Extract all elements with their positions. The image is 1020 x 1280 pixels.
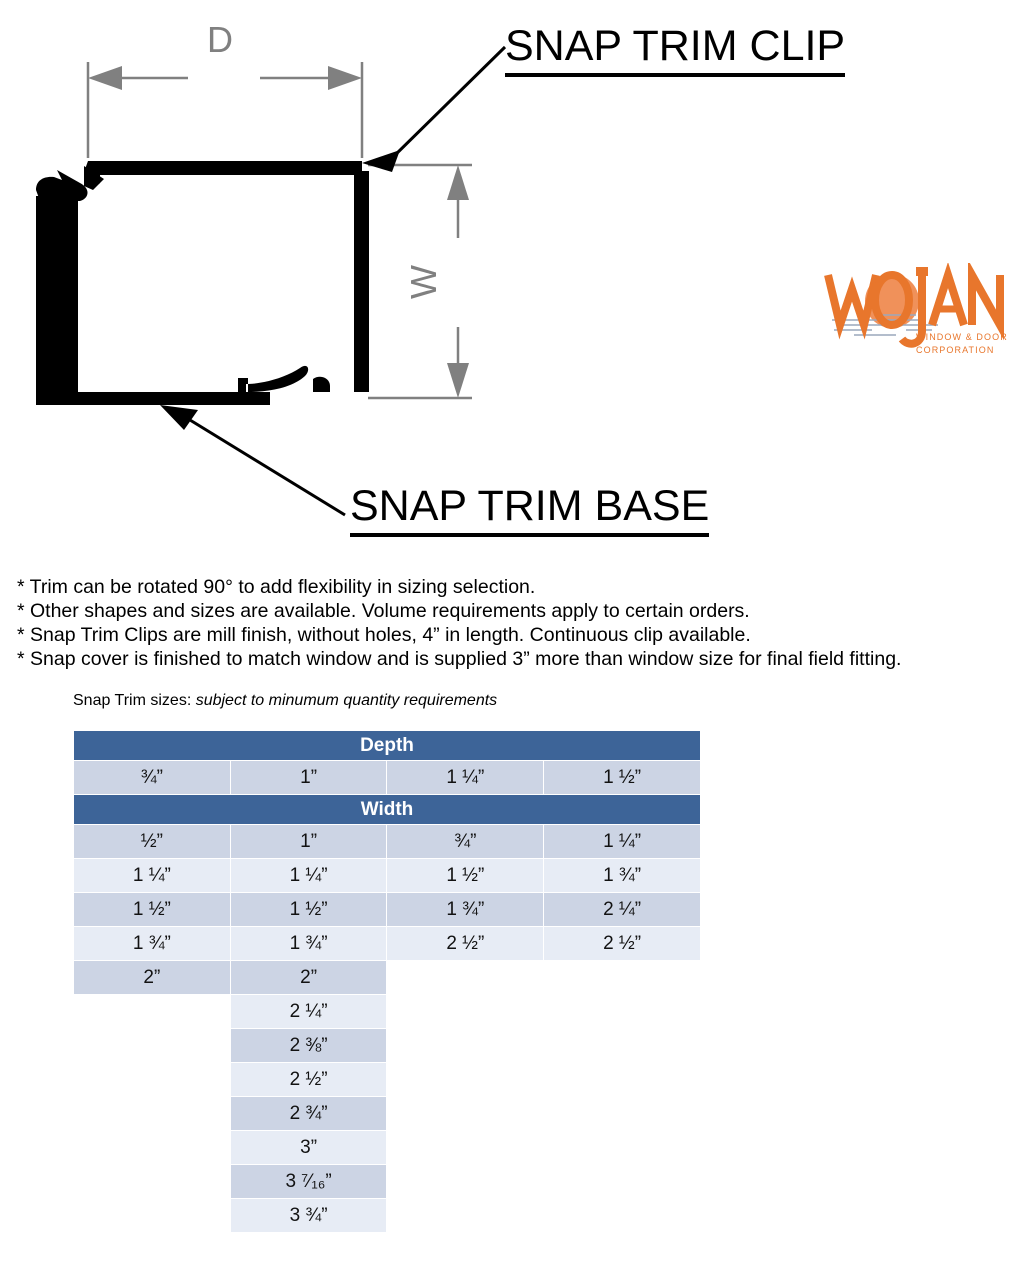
table-row: 1 ¼” 1 ¼” 1 ½” 1 ¾” — [74, 859, 700, 892]
table-row: Width — [74, 795, 700, 824]
table-cell: ¾” — [387, 825, 543, 858]
table-cell: 1 ½” — [544, 761, 700, 794]
table-row: 1 ½” 1 ½” 1 ¾” 2 ¼” — [74, 893, 700, 926]
table-row: 2” 2” — [74, 961, 700, 994]
table-row: 3” — [74, 1131, 700, 1164]
base-bottom-snap-lip — [238, 366, 308, 392]
table-cell: 3 ⁷⁄₁₆” — [231, 1165, 387, 1198]
table-cell-empty — [544, 1165, 700, 1198]
table-cell: 2 ¾” — [231, 1097, 387, 1130]
width-label-W: W — [403, 265, 444, 299]
note-item: * Other shapes and sizes are available. … — [17, 599, 1002, 623]
depth-dimension-group — [88, 62, 362, 158]
table-cell: 2 ⅜” — [231, 1029, 387, 1062]
table-cell: 2 ½” — [544, 927, 700, 960]
table-cell: 1 ¾” — [387, 893, 543, 926]
table-cell: 3 ¾” — [231, 1199, 387, 1232]
notes-list: * Trim can be rotated 90° to add flexibi… — [17, 575, 1002, 671]
section-header-depth: Depth — [74, 731, 700, 760]
table-cell-empty — [387, 1199, 543, 1232]
table-cell-empty — [544, 1199, 700, 1232]
table-cell: 1 ½” — [231, 893, 387, 926]
table-row: Depth — [74, 731, 700, 760]
table-cell-empty — [74, 1199, 230, 1232]
base-callout-leader — [160, 405, 345, 515]
table-cell-empty — [387, 1165, 543, 1198]
logo-tagline-line2: CORPORATION — [916, 345, 994, 355]
table-cell: 1 ¾” — [74, 927, 230, 960]
table-cell: 1 ¼” — [544, 825, 700, 858]
table-cell: 2” — [231, 961, 387, 994]
note-item: * Trim can be rotated 90° to add flexibi… — [17, 575, 1002, 599]
section-header-width: Width — [74, 795, 700, 824]
table-cell: 1 ¾” — [231, 927, 387, 960]
table-row: ¾” 1” 1 ¼” 1 ½” — [74, 761, 700, 794]
caption-italic-text: subject to minumum quantity requirements — [196, 692, 497, 709]
base-right-snap-leg — [313, 377, 356, 392]
table-cell-empty — [74, 1029, 230, 1062]
table-row: 2 ¼” — [74, 995, 700, 1028]
table-cell: 3” — [231, 1131, 387, 1164]
table-row: 3 ⁷⁄₁₆” — [74, 1165, 700, 1198]
width-arrowhead-bottom — [447, 363, 469, 398]
table-cell: 1 ¼” — [74, 859, 230, 892]
table-cell-empty — [544, 1029, 700, 1062]
callout-clip-text: SNAP TRIM CLIP — [505, 25, 845, 77]
table-cell: 2 ½” — [387, 927, 543, 960]
table-cell-empty — [74, 1165, 230, 1198]
snap-trim-clip-profile — [84, 161, 369, 392]
table-cell: 2 ¼” — [544, 893, 700, 926]
table-cell: 1 ½” — [387, 859, 543, 892]
table-cell: 2 ¼” — [231, 995, 387, 1028]
table-cell-empty — [544, 1063, 700, 1096]
snap-trim-base-profile — [36, 196, 270, 405]
table-row: 2 ½” — [74, 1063, 700, 1096]
table-row: 1 ¾” 1 ¾” 2 ½” 2 ½” — [74, 927, 700, 960]
logo-tagline-line1: WINDOW & DOOR — [916, 332, 1008, 342]
j-flag-icon — [916, 267, 928, 276]
table-caption: Snap Trim sizes: subject to minumum quan… — [73, 692, 497, 710]
table-cell-empty — [387, 1029, 543, 1062]
width-arrowhead-top — [447, 165, 469, 200]
table-cell-empty — [544, 995, 700, 1028]
table-cell-empty — [387, 1131, 543, 1164]
table-cell-empty — [387, 961, 543, 994]
base-left-hook — [36, 170, 88, 201]
table-cell-empty — [74, 1097, 230, 1130]
note-item: * Snap cover is finished to match window… — [17, 647, 1002, 671]
table-cell-empty — [74, 1131, 230, 1164]
table-cell: 2 ½” — [231, 1063, 387, 1096]
table-cell: ¾” — [74, 761, 230, 794]
depth-label-D: D — [207, 19, 233, 60]
table-cell: 1 ¾” — [544, 859, 700, 892]
callout-label-snap-trim-clip: SNAP TRIM CLIP — [505, 25, 845, 77]
table-cell: 1 ¼” — [231, 859, 387, 892]
table-cell-empty — [74, 995, 230, 1028]
table-row: 3 ¾” — [74, 1199, 700, 1232]
table-cell: 1 ½” — [74, 893, 230, 926]
table-cell-empty — [387, 1097, 543, 1130]
profile-diagram: D W SNAP TRIM CLIP SNAP TRIM BASE — [0, 0, 1020, 560]
callout-base-text: SNAP TRIM BASE — [350, 485, 709, 537]
table-cell-empty — [544, 1097, 700, 1130]
wojan-logo: WINDOW & DOOR CORPORATION — [820, 263, 1010, 363]
depth-arrowhead-right — [328, 66, 362, 90]
table-cell: 2” — [74, 961, 230, 994]
table-row: 2 ⅜” — [74, 1029, 700, 1062]
table-cell-empty — [544, 1131, 700, 1164]
table-cell: 1” — [231, 825, 387, 858]
snap-trim-size-table: Depth ¾” 1” 1 ¼” 1 ½” Width ½” 1” ¾” 1 ¼… — [73, 730, 701, 1233]
table-cell: 1 ¼” — [387, 761, 543, 794]
callout-label-snap-trim-base: SNAP TRIM BASE — [350, 485, 709, 537]
table-cell-empty — [387, 995, 543, 1028]
table-cell-empty — [544, 961, 700, 994]
table-cell: 1” — [231, 761, 387, 794]
table-cell: ½” — [74, 825, 230, 858]
table-row: ½” 1” ¾” 1 ¼” — [74, 825, 700, 858]
table-cell-empty — [387, 1063, 543, 1096]
clip-callout-leader — [362, 47, 505, 172]
depth-arrowhead-left — [88, 66, 122, 90]
note-item: * Snap Trim Clips are mill finish, witho… — [17, 623, 1002, 647]
caption-plain-text: Snap Trim sizes: — [73, 692, 196, 709]
table-row: 2 ¾” — [74, 1097, 700, 1130]
table-cell-empty — [74, 1063, 230, 1096]
